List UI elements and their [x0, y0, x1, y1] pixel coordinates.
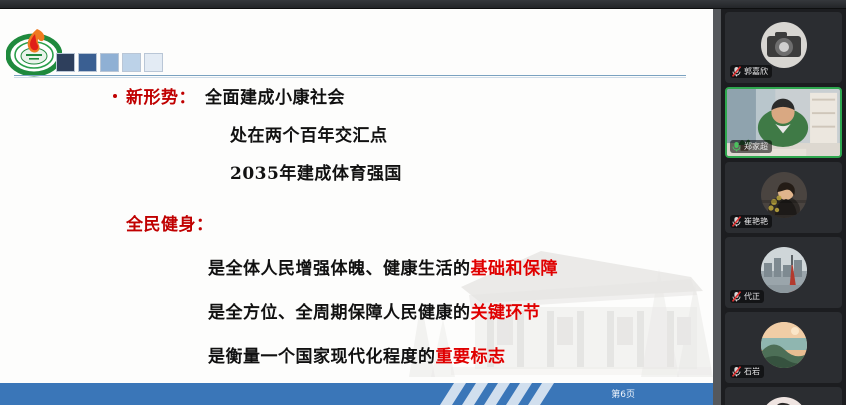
statement-1-highlight: 基础和保障	[471, 259, 559, 279]
participant-filmstrip[interactable]: 郭嘉欣	[721, 9, 846, 405]
bullet-label: 新形势：	[126, 83, 196, 108]
avatar	[761, 247, 807, 293]
bullet-line-3: 2035年建成体育强国	[230, 159, 713, 184]
name-badge: 郑家超	[730, 140, 772, 153]
participant-name: 崔艳艳	[744, 218, 768, 226]
name-badge: 代正	[730, 290, 764, 303]
zoom-meeting-window: 新形势： 全面建成小康社会 处在两个百年交汇点 2035年建成体育强国 全民健身…	[0, 0, 846, 405]
participant-name: 郑家超	[744, 143, 768, 151]
mic-muted-icon	[732, 366, 741, 377]
participant-name: 郭嘉欣	[744, 68, 768, 76]
name-badge: 郭嘉欣	[730, 65, 772, 78]
statement-2-lead: 是全方位、全周期保障人民健康的	[208, 303, 471, 323]
statement-1-lead: 是全体人民增强体魄、健康生活的	[208, 259, 471, 279]
footer-stripes-decoration	[440, 383, 630, 405]
statement-3-highlight: 重要标志	[436, 347, 506, 367]
mic-muted-icon	[732, 291, 741, 302]
participant-name: 石岩	[744, 368, 760, 376]
page-number: 第6页	[611, 387, 635, 400]
avatar	[761, 172, 807, 218]
avatar	[761, 322, 807, 368]
participant-tile[interactable]: 杨卓枫	[725, 387, 842, 405]
name-badge: 石岩	[730, 365, 764, 378]
panel-divider[interactable]	[713, 9, 721, 405]
statement-2: 是全方位、全周期保障人民健康的关键环节	[208, 298, 713, 323]
avatar	[761, 22, 807, 68]
participant-tile[interactable]: 代正	[725, 237, 842, 308]
statement-1: 是全体人民增强体魄、健康生活的基础和保障	[208, 254, 713, 279]
section-title: 全民健身：	[126, 210, 713, 235]
statement-3-lead: 是衡量一个国家现代化程度的	[208, 347, 436, 367]
mic-muted-icon	[732, 216, 741, 227]
slide-content: 新形势： 全面建成小康社会 处在两个百年交汇点 2035年建成体育强国 全民健身…	[0, 83, 713, 367]
mic-active-icon	[732, 141, 741, 152]
window-title-bar	[0, 0, 846, 9]
name-badge: 崔艳艳	[730, 215, 772, 228]
woman-portrait-icon	[761, 172, 807, 218]
participant-tile[interactable]: 崔艳艳	[725, 162, 842, 233]
bullet-line-2: 处在两个百年交汇点	[230, 121, 713, 146]
participant-tile-active-speaker[interactable]: 郑家超	[725, 87, 842, 158]
header-color-swatches	[56, 53, 163, 72]
city-scene-icon	[761, 247, 807, 293]
avatar	[761, 397, 807, 405]
slide-footer: 第6页	[0, 383, 713, 405]
header-divider-line	[14, 75, 686, 76]
mic-muted-icon	[732, 66, 741, 77]
bullet-line-1: 全面建成小康社会	[205, 83, 345, 108]
participant-name: 代正	[744, 293, 760, 301]
sketch-portrait-icon	[761, 397, 807, 405]
slide-header	[0, 9, 713, 73]
bullet-block: 新形势： 全面建成小康社会 处在两个百年交汇点 2035年建成体育强国	[0, 83, 713, 184]
statement-2-highlight: 关键环节	[471, 303, 541, 323]
shared-slide: 新形势： 全面建成小康社会 处在两个百年交汇点 2035年建成体育强国 全民健身…	[0, 9, 713, 405]
participant-tile[interactable]: 石岩	[725, 312, 842, 383]
participant-tile[interactable]: 郭嘉欣	[725, 12, 842, 83]
bullet-dot	[113, 94, 117, 98]
camera-photo-icon	[761, 22, 807, 68]
statement-3: 是衡量一个国家现代化程度的重要标志	[208, 342, 713, 367]
institution-seal-logo	[6, 25, 62, 77]
landscape-scene-icon	[761, 322, 807, 368]
